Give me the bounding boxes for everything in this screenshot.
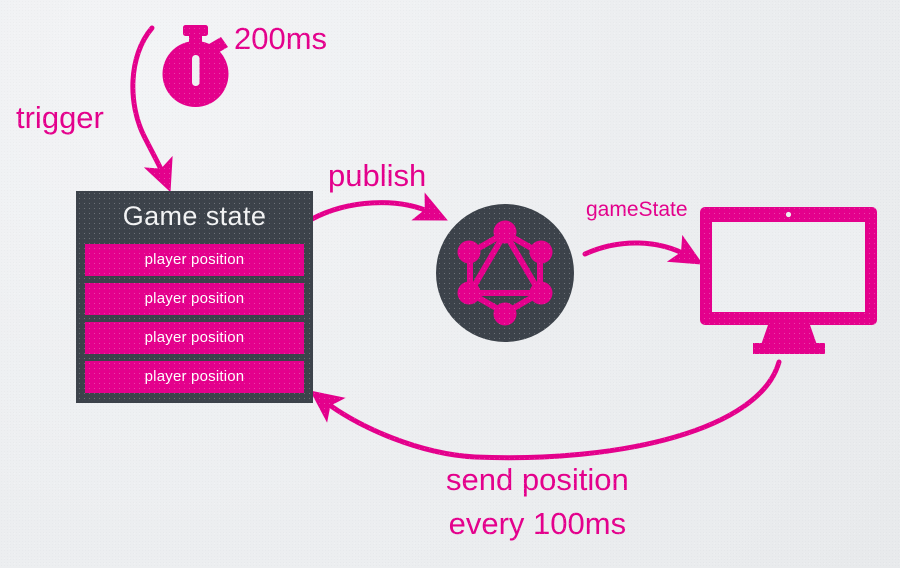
send-position-label: send position every 100ms	[446, 458, 629, 546]
graphql-server-icon	[436, 204, 574, 342]
player-position-row: player position	[85, 283, 304, 315]
game-state-title: Game state	[85, 197, 304, 237]
client-monitor-icon	[700, 207, 877, 354]
player-position-row: player position	[85, 322, 304, 354]
trigger-arrow	[133, 28, 164, 176]
publish-label: publish	[328, 158, 426, 194]
trigger-label: trigger	[16, 100, 104, 136]
diagram-canvas: Game state player position player positi…	[0, 0, 900, 568]
game-state-panel: Game state player position player positi…	[76, 191, 313, 403]
send-position-line2: every 100ms	[446, 502, 629, 546]
gamestate-label: gameState	[586, 198, 688, 222]
gamestate-arrow	[585, 243, 688, 256]
stopwatch-icon	[163, 25, 229, 107]
timer-value-label: 200ms	[234, 21, 327, 57]
player-position-row: player position	[85, 244, 304, 276]
send-position-line1: send position	[446, 462, 629, 497]
player-position-row: player position	[85, 361, 304, 393]
send-position-arrow	[324, 362, 779, 458]
publish-arrow	[312, 203, 432, 219]
